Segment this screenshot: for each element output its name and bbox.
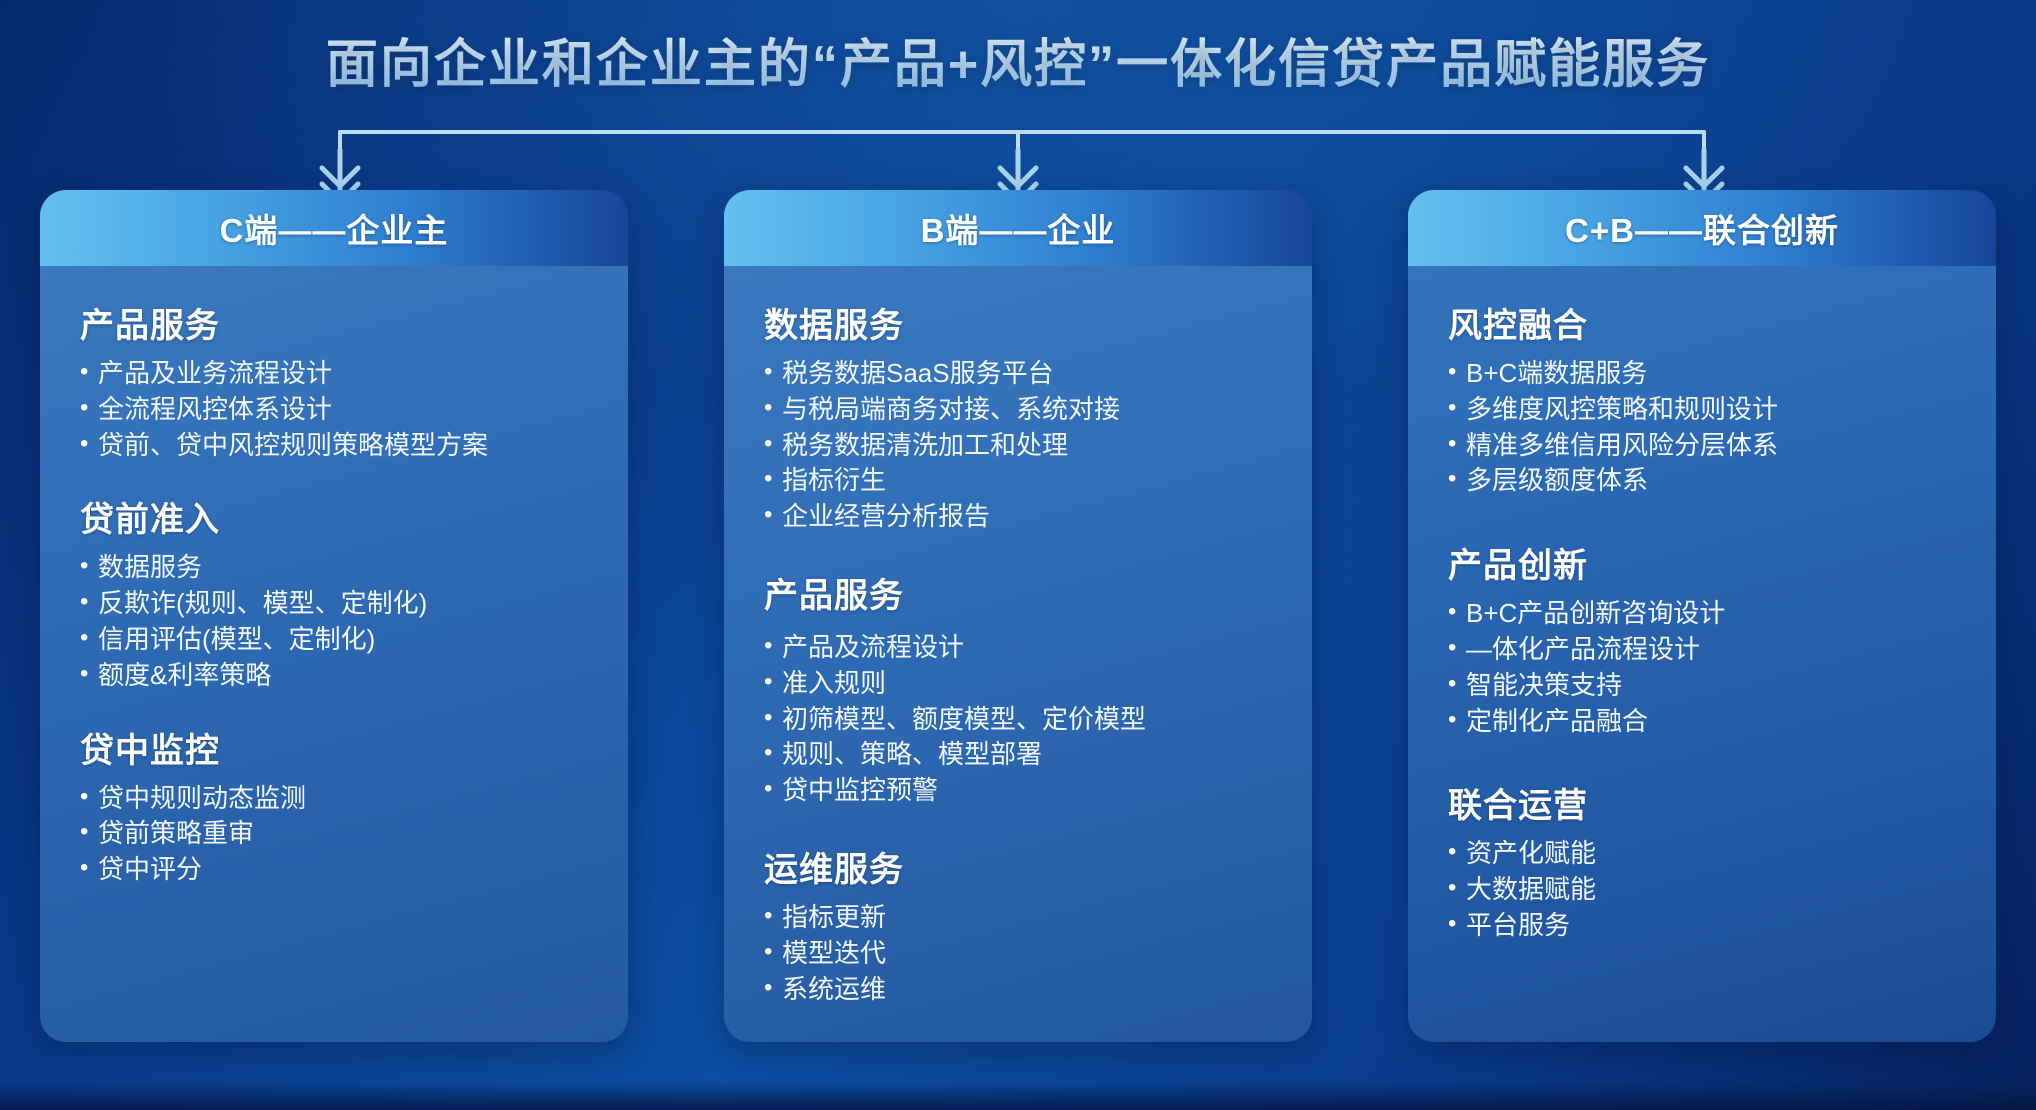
section-title: 联合运营 (1448, 778, 1956, 827)
section-bullet-list: 数据服务 反欺诈(规则、模型、定制化) 信用评估(模型、定制化) 额度&利率策略 (80, 551, 588, 692)
card-body-c-end: 产品服务 产品及业务流程设计 全流程风控体系设计 贷前、贷中风控规则策略模型方案… (40, 266, 628, 1042)
list-item: 全流程风控体系设计 (80, 393, 588, 427)
section-bullet-list: 指标更新 模型迭代 系统运维 (764, 901, 1272, 1006)
page-title-container: 面向企业和企业主的“产品+风控”一体化信贷产品赋能服务 (0, 22, 2036, 97)
list-item: 资产化赋能 (1448, 837, 1956, 871)
list-item: 精准多维信用风险分层体系 (1448, 429, 1956, 463)
list-item: 模型迭代 (764, 937, 1272, 971)
section-bullet-list: 产品及流程设计 准入规则 初筛模型、额度模型、定价模型 规则、策略、模型部署 贷… (764, 631, 1272, 808)
list-item: 税务数据SaaS服务平台 (764, 357, 1272, 391)
section-title: 运维服务 (764, 842, 1272, 891)
list-item: 多层级额度体系 (1448, 464, 1956, 498)
section-title: 产品服务 (80, 298, 588, 347)
card-c-end[interactable]: C端——企业主 产品服务 产品及业务流程设计 全流程风控体系设计 贷前、贷中风控… (40, 190, 628, 1042)
card-header-label: B端——企业 (921, 204, 1116, 252)
section-title: 数据服务 (764, 298, 1272, 347)
section-block: 贷中监控 贷中规则动态监测 贷前策略重审 贷中评分 (80, 723, 588, 887)
card-header-cb-joint: C+B——联合创新 (1408, 190, 1996, 266)
list-item: 指标衍生 (764, 464, 1272, 498)
section-bullet-list: 资产化赋能 大数据赋能 平台服务 (1448, 837, 1956, 942)
list-item: 贷中监控预警 (764, 774, 1272, 808)
section-bullet-list: B+C产品创新咨询设计 —体化产品流程设计 智能决策支持 定制化产品融合 (1448, 597, 1956, 738)
list-item: 多维度风控策略和规则设计 (1448, 393, 1956, 427)
card-body-cb-joint: 风控融合 B+C端数据服务 多维度风控策略和规则设计 精准多维信用风险分层体系 … (1408, 266, 1996, 1042)
list-item: 智能决策支持 (1448, 669, 1956, 703)
list-item: 贷前策略重审 (80, 817, 588, 851)
section-block: 产品服务 产品及业务流程设计 全流程风控体系设计 贷前、贷中风控规则策略模型方案 (80, 298, 588, 462)
list-item: 初筛模型、额度模型、定价模型 (764, 703, 1272, 737)
list-item: 额度&利率策略 (80, 659, 588, 693)
list-item: 信用评估(模型、定制化) (80, 623, 588, 657)
list-item: 数据服务 (80, 551, 588, 585)
section-bullet-list: 产品及业务流程设计 全流程风控体系设计 贷前、贷中风控规则策略模型方案 (80, 357, 588, 462)
card-header-c-end: C端——企业主 (40, 190, 628, 266)
list-item: 系统运维 (764, 973, 1272, 1007)
list-item: 贷中评分 (80, 853, 588, 887)
card-cb-joint[interactable]: C+B——联合创新 风控融合 B+C端数据服务 多维度风控策略和规则设计 精准多… (1408, 190, 1996, 1042)
list-item: B+C端数据服务 (1448, 357, 1956, 391)
section-bullet-list: 贷中规则动态监测 贷前策略重审 贷中评分 (80, 782, 588, 887)
section-title: 贷中监控 (80, 723, 588, 772)
list-item: 税务数据清洗加工和处理 (764, 429, 1272, 463)
list-item: 大数据赋能 (1448, 873, 1956, 907)
card-body-b-end: 数据服务 税务数据SaaS服务平台 与税局端商务对接、系统对接 税务数据清洗加工… (724, 266, 1312, 1042)
slide-root: 面向企业和企业主的“产品+风控”一体化信贷产品赋能服务 (0, 0, 2036, 1110)
list-item: 产品及流程设计 (764, 631, 1272, 665)
section-block: 产品创新 B+C产品创新咨询设计 —体化产品流程设计 智能决策支持 定制化产品融… (1448, 538, 1956, 738)
list-item: 准入规则 (764, 667, 1272, 701)
list-item: 贷中规则动态监测 (80, 782, 588, 816)
list-item: 贷前、贷中风控规则策略模型方案 (80, 429, 588, 463)
list-item: —体化产品流程设计 (1448, 633, 1956, 667)
list-item: 规则、策略、模型部署 (764, 738, 1272, 772)
cards-row: C端——企业主 产品服务 产品及业务流程设计 全流程风控体系设计 贷前、贷中风控… (40, 190, 1996, 1060)
page-title: 面向企业和企业主的“产品+风控”一体化信贷产品赋能服务 (326, 22, 1710, 97)
section-title: 风控融合 (1448, 298, 1956, 347)
section-bullet-list: 税务数据SaaS服务平台 与税局端商务对接、系统对接 税务数据清洗加工和处理 指… (764, 357, 1272, 534)
section-title: 产品创新 (1448, 538, 1956, 587)
section-block: 数据服务 税务数据SaaS服务平台 与税局端商务对接、系统对接 税务数据清洗加工… (764, 298, 1272, 534)
card-header-b-end: B端——企业 (724, 190, 1312, 266)
card-header-label: C+B——联合创新 (1565, 204, 1839, 252)
list-item: 反欺诈(规则、模型、定制化) (80, 587, 588, 621)
section-block: 联合运营 资产化赋能 大数据赋能 平台服务 (1448, 778, 1956, 942)
section-bullet-list: B+C端数据服务 多维度风控策略和规则设计 精准多维信用风险分层体系 多层级额度… (1448, 357, 1956, 498)
section-block: 风控融合 B+C端数据服务 多维度风控策略和规则设计 精准多维信用风险分层体系 … (1448, 298, 1956, 498)
list-item: 与税局端商务对接、系统对接 (764, 393, 1272, 427)
section-title: 贷前准入 (80, 492, 588, 541)
list-item: 定制化产品融合 (1448, 705, 1956, 739)
section-title: 产品服务 (764, 568, 1272, 617)
card-header-label: C端——企业主 (220, 204, 449, 252)
section-block: 运维服务 指标更新 模型迭代 系统运维 (764, 842, 1272, 1006)
list-item: 指标更新 (764, 901, 1272, 935)
list-item: 企业经营分析报告 (764, 500, 1272, 534)
list-item: 平台服务 (1448, 909, 1956, 943)
card-b-end[interactable]: B端——企业 数据服务 税务数据SaaS服务平台 与税局端商务对接、系统对接 税… (724, 190, 1312, 1042)
section-block: 产品服务 产品及流程设计 准入规则 初筛模型、额度模型、定价模型 规则、策略、模… (764, 568, 1272, 808)
list-item: 产品及业务流程设计 (80, 357, 588, 391)
list-item: B+C产品创新咨询设计 (1448, 597, 1956, 631)
section-block: 贷前准入 数据服务 反欺诈(规则、模型、定制化) 信用评估(模型、定制化) 额度… (80, 492, 588, 692)
connector-diagram (0, 110, 2036, 200)
